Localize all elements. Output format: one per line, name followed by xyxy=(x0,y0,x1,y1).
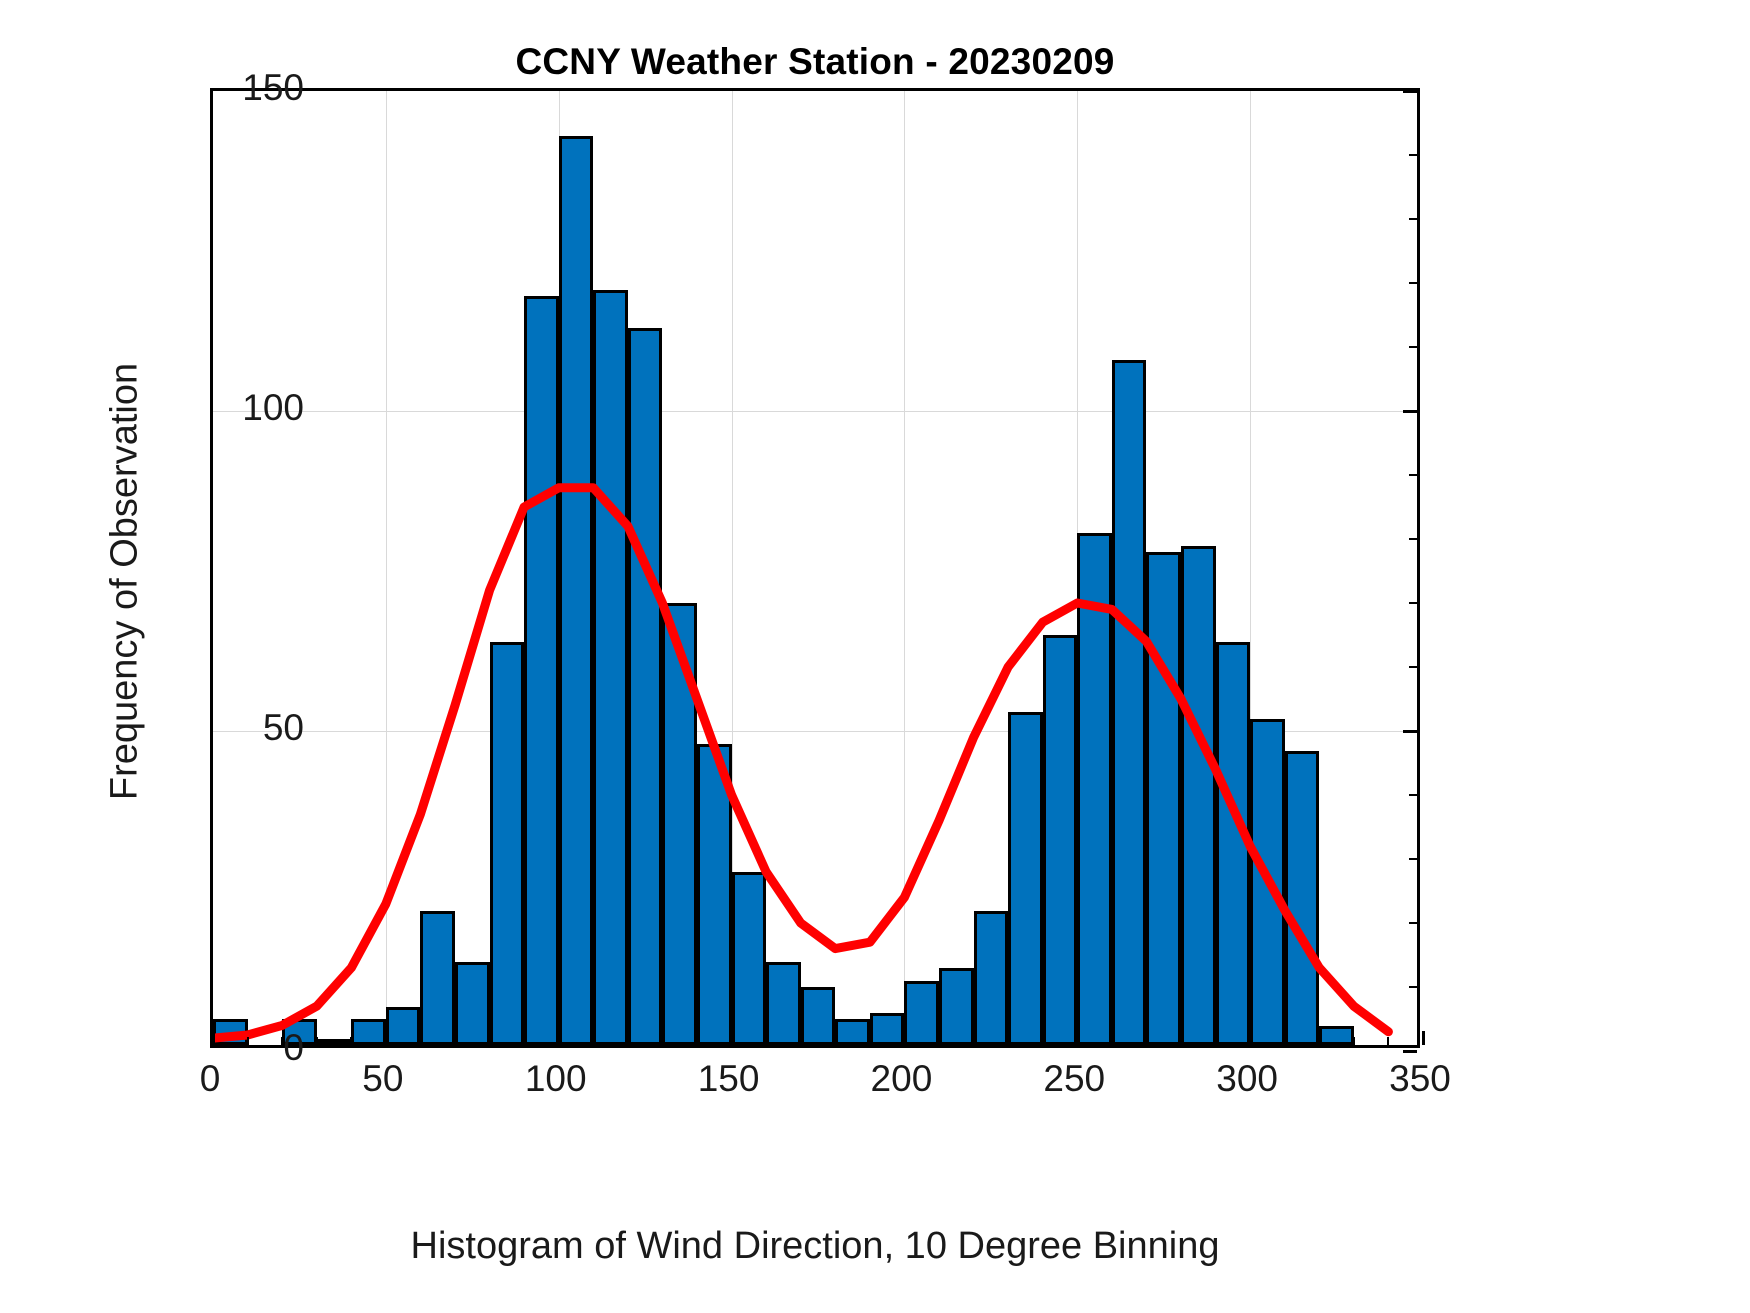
x-axis-tick xyxy=(1422,1031,1425,1045)
x-axis-minor-tick xyxy=(454,1037,456,1045)
x-tick-label: 100 xyxy=(476,1060,636,1097)
x-axis-minor-tick xyxy=(627,1037,629,1045)
x-axis-minor-tick xyxy=(489,1037,491,1045)
y-tick-label: 100 xyxy=(164,389,304,426)
y-axis-minor-tick xyxy=(1409,218,1417,220)
x-axis-minor-tick xyxy=(1387,1037,1389,1045)
y-axis-minor-tick xyxy=(1409,538,1417,540)
x-axis-minor-tick xyxy=(316,1037,318,1045)
y-tick-label: 150 xyxy=(164,69,304,106)
x-axis-minor-tick xyxy=(592,1037,594,1045)
y-axis-minor-tick xyxy=(1409,602,1417,604)
x-axis-minor-tick xyxy=(1111,1037,1113,1045)
y-axis-tick xyxy=(1403,410,1417,413)
x-axis-minor-tick xyxy=(938,1037,940,1045)
x-axis-minor-tick xyxy=(1353,1037,1355,1045)
gaussian-fit-curve xyxy=(213,91,1423,1051)
x-axis-minor-tick xyxy=(696,1037,698,1045)
x-axis-tick xyxy=(558,1031,561,1045)
y-tick-label: 50 xyxy=(164,709,304,746)
x-axis-minor-tick xyxy=(419,1037,421,1045)
x-axis-tick xyxy=(731,1031,734,1045)
x-axis-tick xyxy=(903,1031,906,1045)
x-axis-minor-tick xyxy=(869,1037,871,1045)
y-axis-title: Frequency of Observation xyxy=(104,102,147,1062)
y-axis-minor-tick xyxy=(1409,346,1417,348)
x-axis-minor-tick xyxy=(523,1037,525,1045)
x-axis-minor-tick xyxy=(834,1037,836,1045)
x-axis-tick xyxy=(385,1031,388,1045)
y-axis-tick xyxy=(1403,730,1417,733)
x-tick-label: 350 xyxy=(1340,1060,1500,1097)
y-axis-minor-tick xyxy=(1409,858,1417,860)
x-axis-minor-tick xyxy=(661,1037,663,1045)
x-axis-minor-tick xyxy=(1042,1037,1044,1045)
y-axis-minor-tick xyxy=(1409,666,1417,668)
fit-curve-layer xyxy=(213,91,1417,1045)
y-axis-tick xyxy=(1403,1050,1417,1053)
x-axis-minor-tick xyxy=(973,1037,975,1045)
y-axis-minor-tick xyxy=(1409,154,1417,156)
x-tick-label: 300 xyxy=(1167,1060,1327,1097)
x-tick-label: 0 xyxy=(130,1060,290,1097)
x-axis-minor-tick xyxy=(1180,1037,1182,1045)
x-tick-label: 250 xyxy=(994,1060,1154,1097)
x-axis-minor-tick xyxy=(1145,1037,1147,1045)
x-axis-minor-tick xyxy=(800,1037,802,1045)
x-axis-minor-tick xyxy=(350,1037,352,1045)
figure-canvas: CCNY Weather Station - 20230209 05010015… xyxy=(0,0,1750,1313)
x-tick-label: 50 xyxy=(303,1060,463,1097)
x-tick-label: 200 xyxy=(821,1060,981,1097)
y-axis-minor-tick xyxy=(1409,922,1417,924)
x-axis-title: Histogram of Wind Direction, 10 Degree B… xyxy=(210,1225,1420,1268)
x-axis-minor-tick xyxy=(765,1037,767,1045)
y-axis-tick xyxy=(1403,90,1417,93)
plot-area xyxy=(210,88,1420,1048)
x-tick-label: 150 xyxy=(649,1060,809,1097)
x-axis-minor-tick xyxy=(1215,1037,1217,1045)
y-axis-minor-tick xyxy=(1409,986,1417,988)
x-axis-minor-tick xyxy=(1284,1037,1286,1045)
y-axis-minor-tick xyxy=(1409,794,1417,796)
x-axis-minor-tick xyxy=(1318,1037,1320,1045)
x-axis-tick xyxy=(1076,1031,1079,1045)
y-axis-minor-tick xyxy=(1409,474,1417,476)
x-axis-minor-tick xyxy=(1007,1037,1009,1045)
y-axis-minor-tick xyxy=(1409,282,1417,284)
x-axis-tick xyxy=(1249,1031,1252,1045)
